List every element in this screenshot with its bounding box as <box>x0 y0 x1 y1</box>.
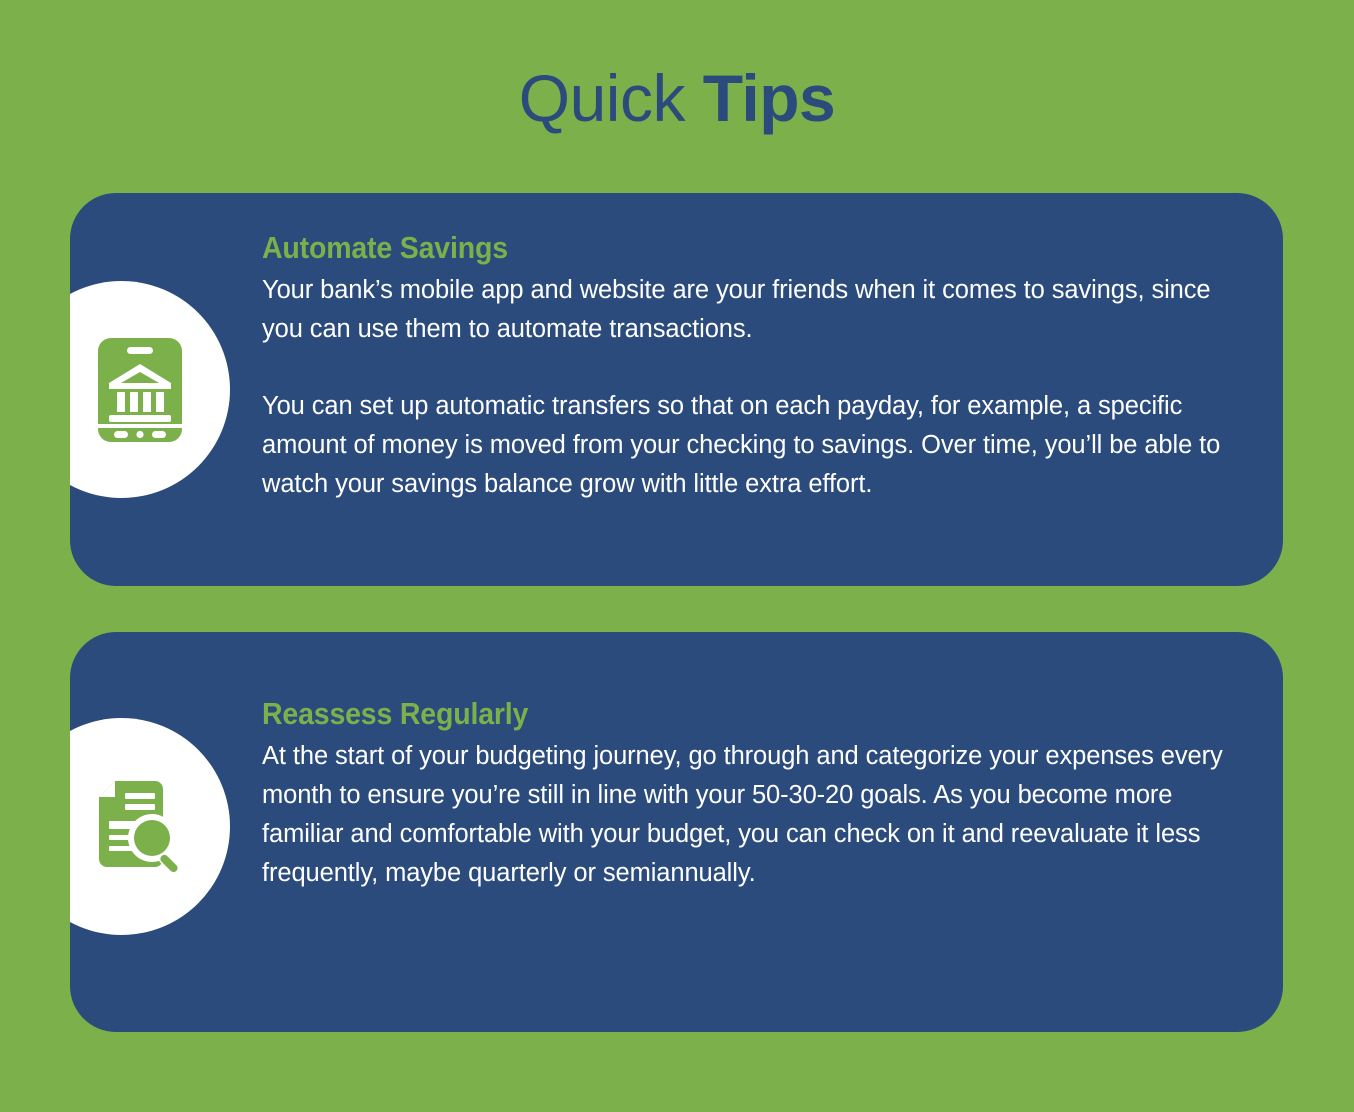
page-title-bold: Tips <box>703 61 835 135</box>
tip-icon-badge <box>70 281 230 498</box>
tip-card-reassess-regularly: Reassess Regularly At the start of your … <box>70 632 1283 1032</box>
tip-card-paragraph: You can set up automatic transfers so th… <box>262 387 1242 504</box>
tip-card-paragraph: Your bank’s mobile app and website are y… <box>262 271 1242 349</box>
page-title-light: Quick <box>519 61 703 135</box>
infographic-page: Quick Tips <box>0 0 1354 1112</box>
tip-icon-badge <box>70 718 230 935</box>
tip-card-body: Automate Savings Your bank’s mobile app … <box>262 228 1242 504</box>
tip-card-paragraph: At the start of your budgeting journey, … <box>262 737 1242 893</box>
page-title: Quick Tips <box>0 58 1354 138</box>
tip-card-heading: Automate Savings <box>262 228 1164 268</box>
tip-card-automate-savings: Automate Savings Your bank’s mobile app … <box>70 193 1283 586</box>
tip-card-body: Reassess Regularly At the start of your … <box>262 694 1242 893</box>
mobile-banking-icon <box>98 338 182 442</box>
tip-card-heading: Reassess Regularly <box>262 694 1164 734</box>
document-review-icon <box>93 779 189 875</box>
